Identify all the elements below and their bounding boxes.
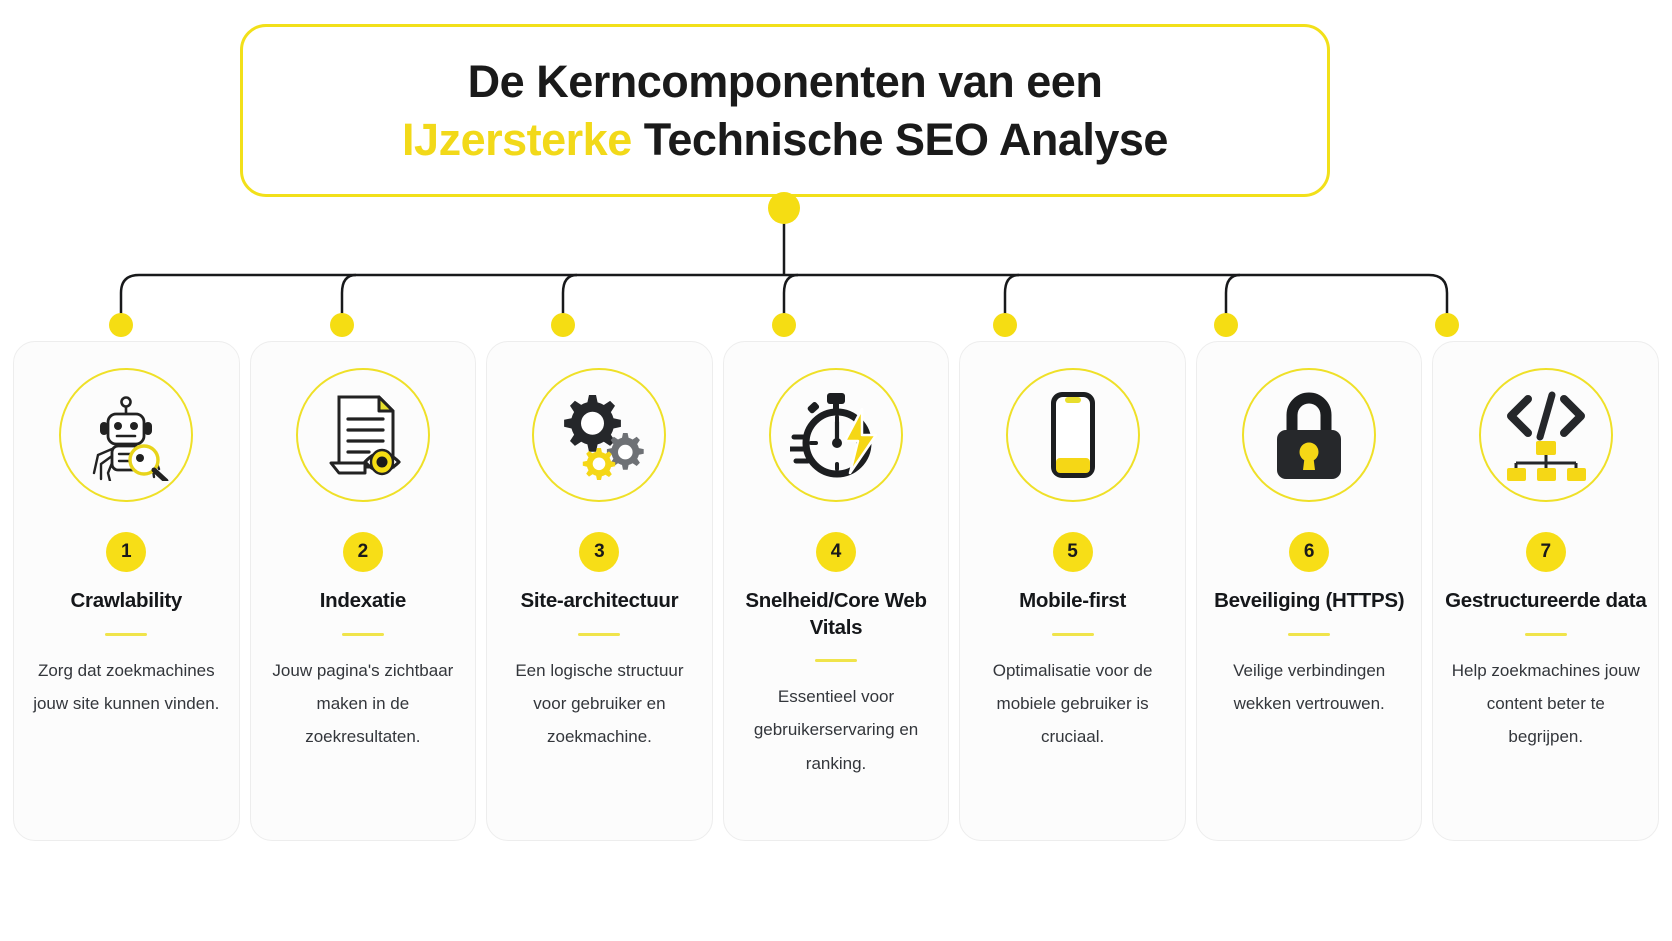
infographic-page: De Kerncomponenten van een IJzersterke T… [0, 0, 1672, 941]
title-card: De Kerncomponenten van een IJzersterke T… [240, 24, 1330, 197]
title-accent-word: IJzersterke [402, 114, 632, 165]
card-title-6: Beveiliging (HTTPS) [1208, 588, 1410, 615]
card-site-architectuur[interactable]: 3 Site-architectuur Een logische structu… [486, 341, 713, 841]
icon-circle-7 [1479, 368, 1613, 502]
icon-circle-5 [1006, 368, 1140, 502]
page-title-line-1: De Kerncomponenten van een [468, 53, 1103, 111]
card-number-1: 1 [106, 532, 146, 572]
card-title-5: Mobile-first [1013, 588, 1132, 615]
branch-dot-4 [772, 313, 796, 337]
branch-dot-2 [330, 313, 354, 337]
card-description-2: Jouw pagina's zichtbaar maken in de zoek… [251, 654, 476, 753]
card-title-3: Site-architectuur [515, 588, 685, 615]
branch-dot-6 [1214, 313, 1238, 337]
card-mobile-first[interactable]: 5 Mobile-first Optimalisatie voor de mob… [959, 341, 1186, 841]
branch-dot-7 [1435, 313, 1459, 337]
card-divider-6 [1288, 633, 1330, 636]
branch-dot-1 [109, 313, 133, 337]
icon-circle-2 [296, 368, 430, 502]
icon-circle-4 [769, 368, 903, 502]
card-snelheid-core-web-vitals[interactable]: 4 Snelheid/Core Web Vitals Essentieel vo… [723, 341, 950, 841]
card-title-7: Gestructureerde data [1439, 588, 1652, 615]
card-title-4: Snelheid/Core Web Vitals [724, 588, 949, 641]
card-divider-3 [578, 633, 620, 636]
card-divider-7 [1525, 633, 1567, 636]
card-title-2: Indexatie [314, 588, 412, 615]
icon-circle-6 [1242, 368, 1376, 502]
card-description-6: Veilige verbindingen wekken vertrouwen. [1197, 654, 1422, 720]
card-number-6: 6 [1289, 532, 1329, 572]
card-number-2: 2 [343, 532, 383, 572]
connector-lines [0, 180, 1672, 355]
smartphone-icon [1027, 389, 1119, 481]
gears-icon [553, 389, 645, 481]
code-schema-icon [1500, 389, 1592, 481]
card-description-5: Optimalisatie voor de mobiele gebruiker … [960, 654, 1185, 753]
crawler-robot-magnifier-icon [80, 389, 172, 481]
card-divider-4 [815, 659, 857, 662]
card-description-7: Help zoekmachines jouw content beter te … [1433, 654, 1658, 753]
card-number-4: 4 [816, 532, 856, 572]
branch-dot-5 [993, 313, 1017, 337]
card-beveiliging-https[interactable]: 6 Beveiliging (HTTPS) Veilige verbinding… [1196, 341, 1423, 841]
title-rest: Technische SEO Analyse [632, 114, 1168, 165]
card-gestructureerde-data[interactable]: 7 Gestructureerde data Help zoekmachines… [1432, 341, 1659, 841]
card-title-1: Crawlability [65, 588, 188, 615]
document-eye-icon [317, 389, 409, 481]
card-divider-1 [105, 633, 147, 636]
card-number-3: 3 [579, 532, 619, 572]
padlock-icon [1263, 389, 1355, 481]
card-number-5: 5 [1053, 532, 1093, 572]
card-number-7: 7 [1526, 532, 1566, 572]
card-list: 1 Crawlability Zorg dat zoekmachines jou… [13, 341, 1659, 841]
hub-dot [768, 192, 800, 224]
stopwatch-lightning-icon [790, 389, 882, 481]
card-divider-2 [342, 633, 384, 636]
icon-circle-3 [532, 368, 666, 502]
branch-dot-3 [551, 313, 575, 337]
icon-circle-1 [59, 368, 193, 502]
card-indexatie[interactable]: 2 Indexatie Jouw pagina's zichtbaar make… [250, 341, 477, 841]
card-crawlability[interactable]: 1 Crawlability Zorg dat zoekmachines jou… [13, 341, 240, 841]
card-description-3: Een logische structuur voor gebruiker en… [487, 654, 712, 753]
card-description-4: Essentieel voor gebruikerservaring en ra… [724, 680, 949, 779]
card-divider-5 [1052, 633, 1094, 636]
page-title-line-2: IJzersterke Technische SEO Analyse [402, 111, 1168, 169]
card-description-1: Zorg dat zoekmachines jouw site kunnen v… [14, 654, 239, 720]
